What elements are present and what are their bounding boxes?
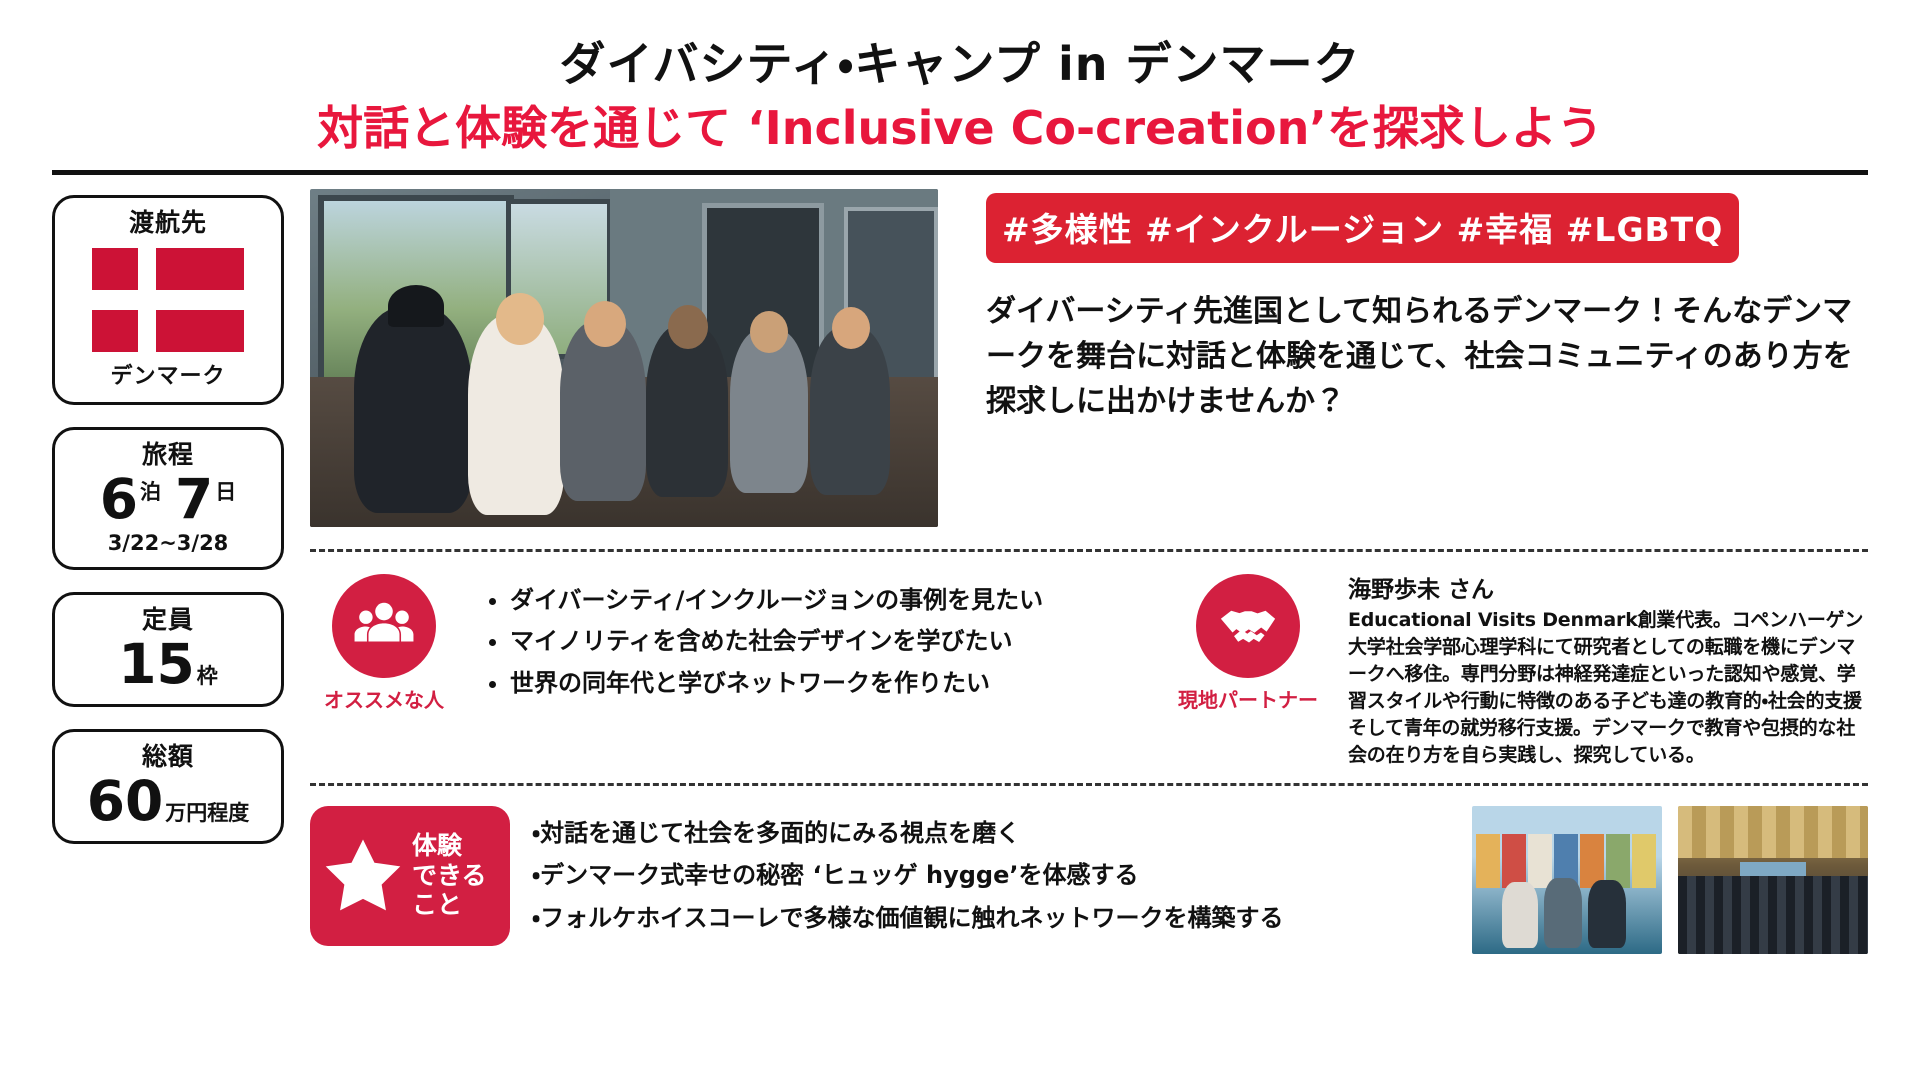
experience-list: ・対話を通じて社会を多面的にみる視点を磨く ・デンマーク式幸せの秘密 ‘ヒュッゲ… (532, 806, 1450, 940)
list-item: マイノリティを含めた社会デザインを学びたい (510, 621, 1148, 662)
audience-partner-row: オススメな人 ダイバーシティ/インクルージョンの事例を見たい マイノリティを含め… (310, 552, 1868, 769)
hashtag-banner: #多様性 #インクルージョン #幸福 #LGBTQ (986, 193, 1739, 263)
price-unit: 万円程度 (165, 797, 249, 827)
spec-column: 渡航先 デンマーク 旅程 6 泊 7 日 3/22~3/28 定員 15 枠 (52, 189, 284, 1037)
poster-body: 渡航先 デンマーク 旅程 6 泊 7 日 3/22~3/28 定員 15 枠 (0, 175, 1920, 1037)
list-item: ダイバーシティ/インクルージョンの事例を見たい (510, 580, 1148, 621)
capacity-value: 15 (118, 637, 195, 692)
capacity-unit: 枠 (197, 660, 218, 690)
itinerary-nights-unit: 泊 (140, 476, 161, 506)
spec-label-itinerary: 旅程 (63, 440, 273, 470)
page-title: ダイバシティ・キャンプ in デンマーク (0, 38, 1920, 91)
partner-badge: 現地パートナー (1174, 574, 1322, 769)
partner-profile: 海野歩未 さん Educational Visits Denmark創業代表。コ… (1348, 574, 1868, 769)
handshake-icon (1196, 574, 1300, 678)
nyhavn-harbour-photo (1472, 806, 1662, 954)
recommended-badge: オススメな人 (310, 574, 458, 769)
spec-card-capacity: 定員 15 枠 (52, 592, 284, 707)
itinerary-days-unit: 日 (215, 476, 236, 506)
page-subtitle: 対話と体験を通じて ‘Inclusive Co-creation’を探求しよう (0, 101, 1920, 156)
content-column: #多様性 #インクルージョン #幸福 #LGBTQ ダイバーシティ先進国として知… (284, 189, 1868, 1037)
price-value-row: 60 万円程度 (63, 774, 273, 829)
spec-label-price: 総額 (63, 742, 273, 772)
thumbnail-strip (1472, 806, 1868, 954)
partner-caption: 現地パートナー (1174, 684, 1322, 713)
experience-badge-line2: できる (412, 861, 487, 891)
partner-name: 海野歩未 さん (1348, 576, 1868, 605)
list-item: ・対話を通じて社会を多面的にみる視点を磨く (532, 812, 1450, 855)
spec-card-price: 総額 60 万円程度 (52, 729, 284, 844)
itinerary-date-range: 3/22~3/28 (63, 531, 273, 555)
denmark-flag-icon (92, 248, 244, 352)
itinerary-nights: 6 (100, 472, 138, 527)
experience-badge-line3: こと (412, 890, 487, 920)
spec-label-destination: 渡航先 (63, 208, 273, 238)
itinerary-days: 7 (175, 472, 213, 527)
experience-badge: 体験 できる こと (310, 806, 510, 946)
star-icon (320, 833, 406, 919)
lead-paragraph: ダイバーシティ先進国として知られるデンマーク！そんなデンマークを舞台に対話と体験… (986, 289, 1868, 424)
workshop-group-photo (310, 189, 938, 527)
intro-text-block: #多様性 #インクルージョン #幸福 #LGBTQ ダイバーシティ先進国として知… (986, 189, 1868, 527)
list-item: 世界の同年代と学びネットワークを作りたい (510, 663, 1148, 704)
recommended-caption: オススメな人 (310, 684, 458, 713)
conference-hall-photo (1678, 806, 1868, 954)
spec-card-itinerary: 旅程 6 泊 7 日 3/22~3/28 (52, 427, 284, 570)
itinerary-duration: 6 泊 7 日 (63, 472, 273, 527)
experience-row: 体験 できる こと ・対話を通じて社会を多面的にみる視点を磨く ・デンマーク式幸… (310, 786, 1868, 954)
spec-label-capacity: 定員 (63, 605, 273, 635)
list-item: ・フォルケホイスコーレで多様な価値観に触れネットワークを構築する (532, 897, 1450, 940)
price-value: 60 (87, 774, 164, 829)
experience-badge-text: 体験 できる こと (412, 831, 487, 920)
spec-card-destination: 渡航先 デンマーク (52, 195, 284, 405)
recommended-list: ダイバーシティ/インクルージョンの事例を見たい マイノリティを含めた社会デザイン… (484, 574, 1148, 769)
capacity-value-row: 15 枠 (63, 637, 273, 692)
experience-badge-line1: 体験 (412, 831, 487, 861)
poster-header: ダイバシティ・キャンプ in デンマーク 対話と体験を通じて ‘Inclusiv… (0, 0, 1920, 175)
list-item: ・デンマーク式幸せの秘密 ‘ヒュッゲ hygge’を体感する (532, 854, 1450, 897)
spec-value-destination: デンマーク (63, 358, 273, 390)
intro-row: #多様性 #インクルージョン #幸福 #LGBTQ ダイバーシティ先進国として知… (310, 189, 1868, 527)
partner-bio: Educational Visits Denmark創業代表。コペンハーゲン大学… (1348, 607, 1868, 769)
people-group-icon (332, 574, 436, 678)
